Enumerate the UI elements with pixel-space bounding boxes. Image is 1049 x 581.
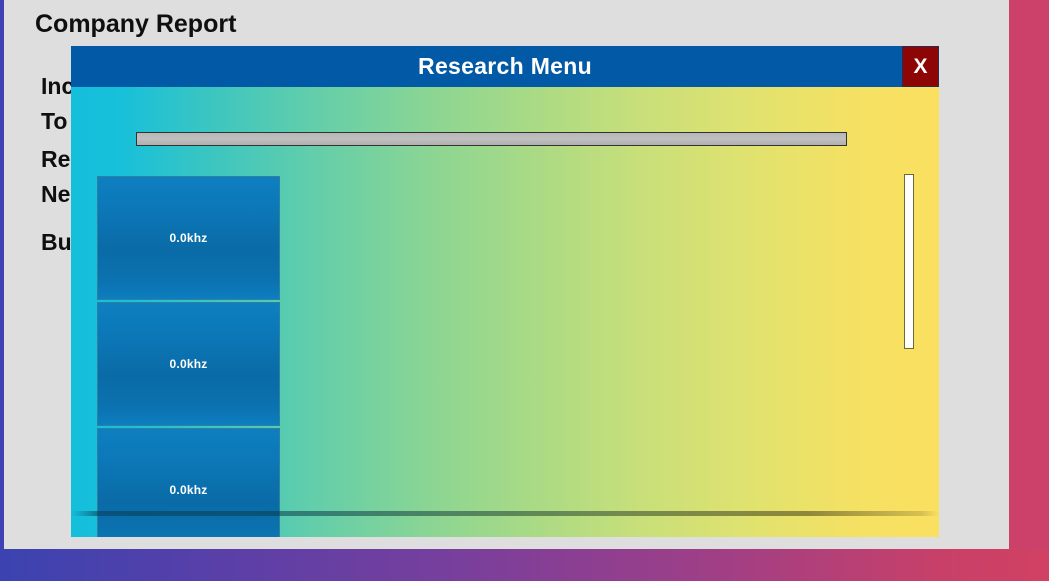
- close-button[interactable]: X: [902, 46, 939, 87]
- horizontal-scrollbar[interactable]: [136, 132, 847, 146]
- dialog-titlebar: Research Menu X: [71, 46, 939, 87]
- report-line: Re: [41, 146, 70, 173]
- research-item-label: 0.0khz: [170, 357, 208, 371]
- app-page: Company Report Inc To Re Ne Bu Research …: [0, 0, 1049, 581]
- report-line: Ne: [41, 181, 70, 208]
- dialog-body: 0.0khz 0.0khz 0.0khz: [71, 87, 939, 537]
- close-icon: X: [913, 56, 927, 77]
- report-line: Bu: [41, 229, 72, 256]
- page-title: Company Report: [35, 10, 236, 39]
- vertical-scrollbar[interactable]: [904, 174, 914, 349]
- research-menu-dialog: Research Menu X 0.0khz 0.0khz 0.0khz: [71, 46, 939, 537]
- research-item-label: 0.0khz: [170, 231, 208, 245]
- report-line: To: [41, 108, 67, 135]
- report-line: Inc: [41, 73, 74, 100]
- page-edge-left: [0, 0, 4, 581]
- research-item[interactable]: 0.0khz: [97, 428, 280, 537]
- research-item[interactable]: 0.0khz: [97, 176, 280, 300]
- research-item[interactable]: 0.0khz: [97, 302, 280, 426]
- dialog-title: Research Menu: [418, 53, 592, 80]
- research-item-label: 0.0khz: [170, 483, 208, 497]
- page-edge-right: [1009, 0, 1049, 581]
- dialog-bottom-divider: [71, 511, 939, 516]
- research-item-list: 0.0khz 0.0khz 0.0khz: [97, 176, 280, 537]
- page-edge-bottom: [0, 549, 1049, 581]
